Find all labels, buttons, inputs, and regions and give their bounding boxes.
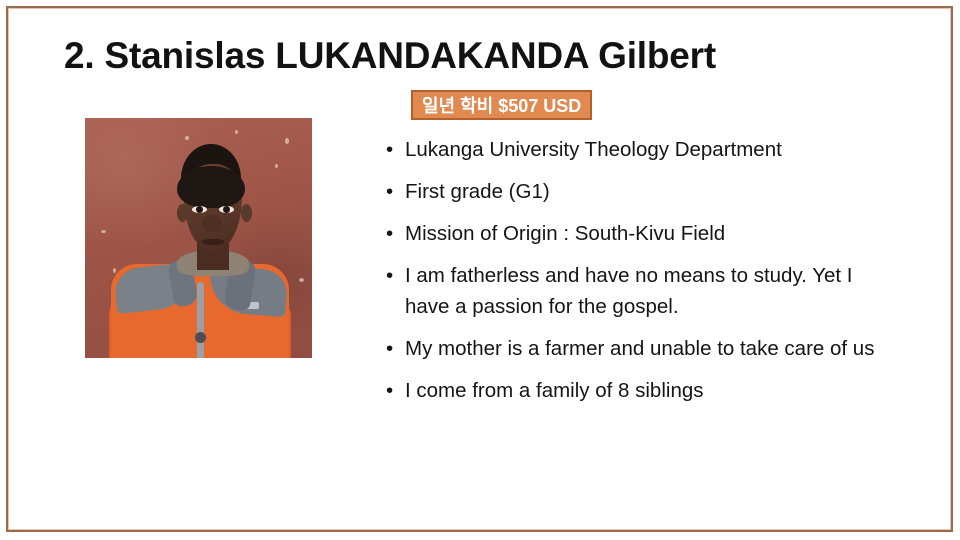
wall-speck — [299, 278, 304, 282]
page-title: 2. Stanislas LUKANDAKANDA Gilbert — [64, 33, 716, 79]
person-left-pupil — [196, 206, 203, 213]
wall-speck — [101, 230, 106, 233]
list-item: I am fatherless and have no means to stu… — [386, 260, 896, 322]
wall-speck — [275, 164, 278, 168]
list-item: Mission of Origin : South-Kivu Field — [386, 218, 896, 249]
wall-speck — [235, 130, 238, 134]
list-item: Lukanga University Theology Department — [386, 134, 896, 165]
tuition-badge: 일년 학비 $507 USD — [411, 90, 592, 120]
slide: 2. Stanislas LUKANDAKANDA Gilbert 일년 학비 … — [0, 0, 960, 540]
list-item: My mother is a farmer and unable to take… — [386, 333, 896, 364]
list-item: I come from a family of 8 siblings — [386, 375, 896, 406]
list-item: First grade (G1) — [386, 176, 896, 207]
person-right-pupil — [223, 206, 230, 213]
wall-speck — [185, 136, 189, 140]
person-right-ear — [241, 204, 252, 222]
wall-speck — [113, 268, 116, 273]
person-mouth — [202, 239, 224, 245]
person-nose — [202, 215, 222, 232]
wall-speck — [285, 138, 289, 144]
jacket-zipper — [197, 282, 204, 358]
student-details-list: Lukanga University Theology Department F… — [386, 134, 896, 417]
student-photo — [85, 118, 312, 358]
jacket-zipper-pull — [195, 332, 206, 343]
